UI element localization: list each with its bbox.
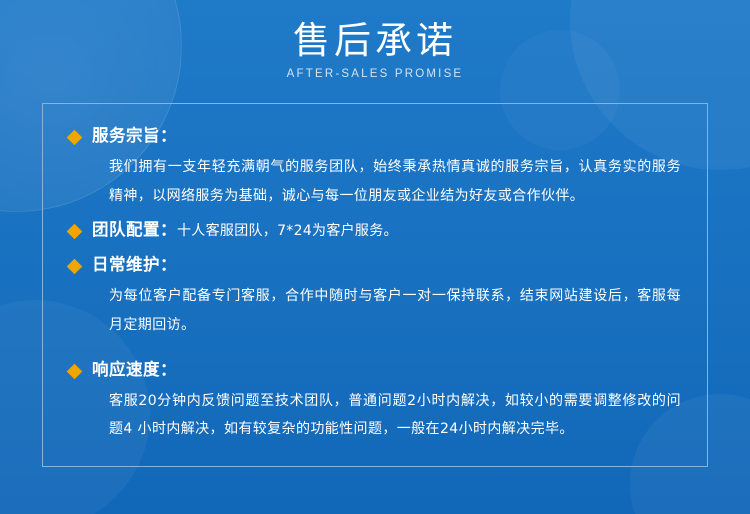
section-body: 客服20分钟内反馈问题至技术团队，普通问题2小时内解决，如较小的需要调整修改的问… [69, 387, 681, 444]
section-body: 为每位客户配备专门客服，合作中随时与客户一对一保持联系，结束网站建设后，客服每月… [69, 282, 681, 339]
spacer [69, 346, 681, 356]
section-heading-row: 服务宗旨： [69, 122, 681, 146]
section-heading: 日常维护： [92, 251, 177, 275]
diamond-bullet-icon [67, 130, 83, 146]
section-inline-text: 十人客服团队，7*24为客户服务。 [177, 220, 398, 240]
section-heading: 响应速度： [92, 356, 177, 380]
content-panel: 服务宗旨： 我们拥有一支年轻充满朝气的服务团队，始终秉承热情真诚的服务宗旨，认真… [42, 103, 708, 467]
page-root: 售后承诺 AFTER-SALES PROMISE 服务宗旨： 我们拥有一支年轻充… [0, 0, 750, 514]
page-title: 售后承诺 [0, 18, 750, 64]
diamond-bullet-icon [67, 363, 83, 379]
section-heading: 团队配置： [92, 216, 177, 240]
diamond-bullet-icon [67, 259, 83, 275]
section-response-speed: 响应速度： 客服20分钟内反馈问题至技术团队，普通问题2小时内解决，如较小的需要… [69, 356, 681, 444]
section-daily-maintenance: 日常维护： 为每位客户配备专门客服，合作中随时与客户一对一保持联系，结束网站建设… [69, 251, 681, 339]
section-heading-row: 响应速度： [69, 356, 681, 380]
section-heading: 服务宗旨： [92, 122, 177, 146]
section-heading-row: 日常维护： [69, 251, 681, 275]
section-team-config: 团队配置： 十人客服团队，7*24为客户服务。 [69, 216, 681, 240]
page-header: 售后承诺 AFTER-SALES PROMISE [0, 0, 750, 80]
diamond-bullet-icon [67, 224, 83, 240]
section-service-purpose: 服务宗旨： 我们拥有一支年轻充满朝气的服务团队，始终秉承热情真诚的服务宗旨，认真… [69, 122, 681, 210]
section-heading-row: 团队配置： 十人客服团队，7*24为客户服务。 [69, 216, 681, 240]
page-subtitle: AFTER-SALES PROMISE [0, 68, 750, 80]
section-body: 我们拥有一支年轻充满朝气的服务团队，始终秉承热情真诚的服务宗旨，认真务实的服务精… [69, 153, 681, 210]
